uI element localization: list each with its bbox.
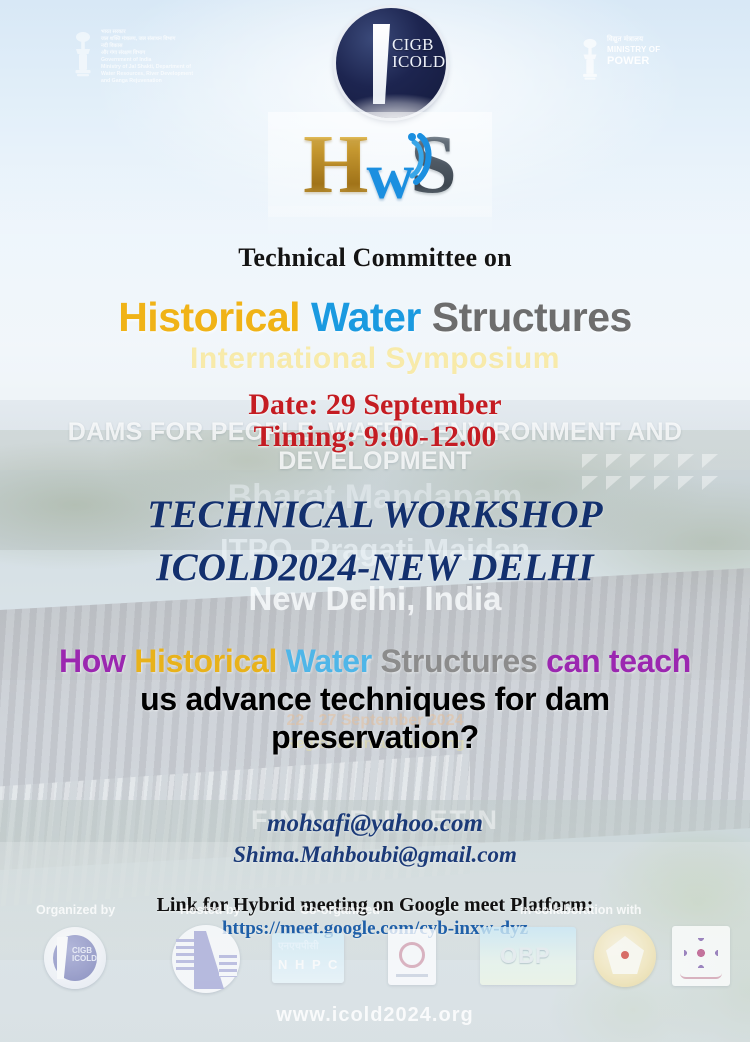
label-hosted-by: Hosted by [180,903,240,917]
obp-logo-text: OBP [500,943,551,969]
ministry-of-power-emblem: विद्युत मंत्रालय MINISTRY OF POWER [578,36,660,86]
label-organized-by: Organized by [36,903,115,917]
power-line-1: MINISTRY OF [607,45,660,54]
question-line-1: How Historical Water Structures can teac… [0,643,750,681]
nhpc-hindi-text: एनएचपीसी [278,938,319,952]
partner-logos-row: CIGB ICOLD एनएचपीसी N H P C OBP [0,925,750,997]
ashoka-emblem-icon [578,36,602,86]
question-line-2: us advance techniques for dam [0,681,750,719]
square-logo-bar [396,974,428,977]
emblem-left-line-3: और गंगा संरक्षण विभाग [101,51,193,57]
emblem-left-line-7: and Ganga Rejuvenation [101,79,193,85]
icold-partner-line-2: ICOLD [72,955,97,963]
question-water: Water [277,643,372,679]
question-line-3: preservation? [0,719,750,757]
gold-seal-dot-icon [621,951,629,959]
poster-root: International Symposium DAMS FOR PEOPLE,… [0,0,750,1042]
hws-letter-s: S [410,116,457,213]
hws-letter-w: w [366,139,414,215]
host-logo-bars-right [219,955,237,977]
title-part-historical: Historical [118,294,300,340]
nhpc-english-text: N H P C [278,957,339,972]
icold-logo-text: CIGB ICOLD [392,36,445,71]
emblem-left-line-4: Government of India [101,58,193,64]
partner-labels-row: Organized by Hosted by Co-organized in c… [0,903,750,923]
partner-square-logo-icon [388,929,436,985]
hws-letter-h: H [303,116,368,213]
emblem-left-line-5: Ministry of Jal Shakti, Department of [101,65,193,71]
title-part-structures: Structures [432,294,632,340]
workshop-title-line-2: ICOLD2024-NEW DELHI [0,545,750,590]
power-line-2: POWER [607,55,660,68]
cigb-icold-logo-icon: CIGB ICOLD [336,8,446,118]
emblem-left-line-6: Water Resources, River Development [101,72,193,78]
emblem-left-line-2: नदी विकास [101,44,193,50]
event-date: Date: 29 September [0,388,750,422]
icold-logo-line-2: ICOLD [392,53,445,70]
square-logo-ring-icon [399,942,425,968]
nhpc-partner-logo-icon: एनएचपीसी N H P C [272,933,344,983]
network-arc-icon [680,973,722,979]
question-historical: Historical [134,643,277,679]
contact-email-2[interactable]: Shima.Mahboubi@gmail.com [0,842,750,868]
obp-partner-logo-icon: OBP [480,927,576,985]
event-timing: Timing: 9:00-12.00 [0,420,750,454]
gold-seal-partner-logo-icon [594,925,656,987]
ministry-jal-shakti-text: भारत सरकार जल शक्ति मंत्रालय, जल संसाधन … [101,30,193,85]
incid-dam-partner-logo-icon [172,925,240,993]
ministry-of-power-text: विद्युत मंत्रालय MINISTRY OF POWER [607,36,660,68]
network-nodes-icon [684,938,718,968]
power-hindi-label: विद्युत मंत्रालय [607,36,660,44]
ministry-jal-shakti-emblem: भारत सरकार जल शक्ति मंत्रालय, जल संसाधन … [70,30,193,85]
contact-email-1[interactable]: mohsafi@yahoo.com [0,810,750,838]
page-title: Historical Water Structures [0,294,750,341]
label-in-collaboration: in collaboration with [520,903,642,917]
hws-reflection [268,206,492,240]
question-can-teach: can teach [538,643,692,679]
workshop-title-line-1: TECHNICAL WORKSHOP [0,492,750,537]
title-part-water: Water [311,294,421,340]
label-co-organized: Co-organized [300,903,380,917]
hws-wordmark-icon: H w S [268,112,492,217]
question-structures: Structures [372,643,538,679]
network-partner-logo-icon [672,926,730,986]
icold-partner-text: CIGB ICOLD [72,947,97,964]
page-title-prefix: Technical Committee on [0,243,750,273]
cigb-icold-partner-logo-icon: CIGB ICOLD [44,927,106,989]
question-how: How [59,643,134,679]
ashoka-emblem-icon [70,30,96,82]
icold-logo-line-1: CIGB [392,36,445,53]
